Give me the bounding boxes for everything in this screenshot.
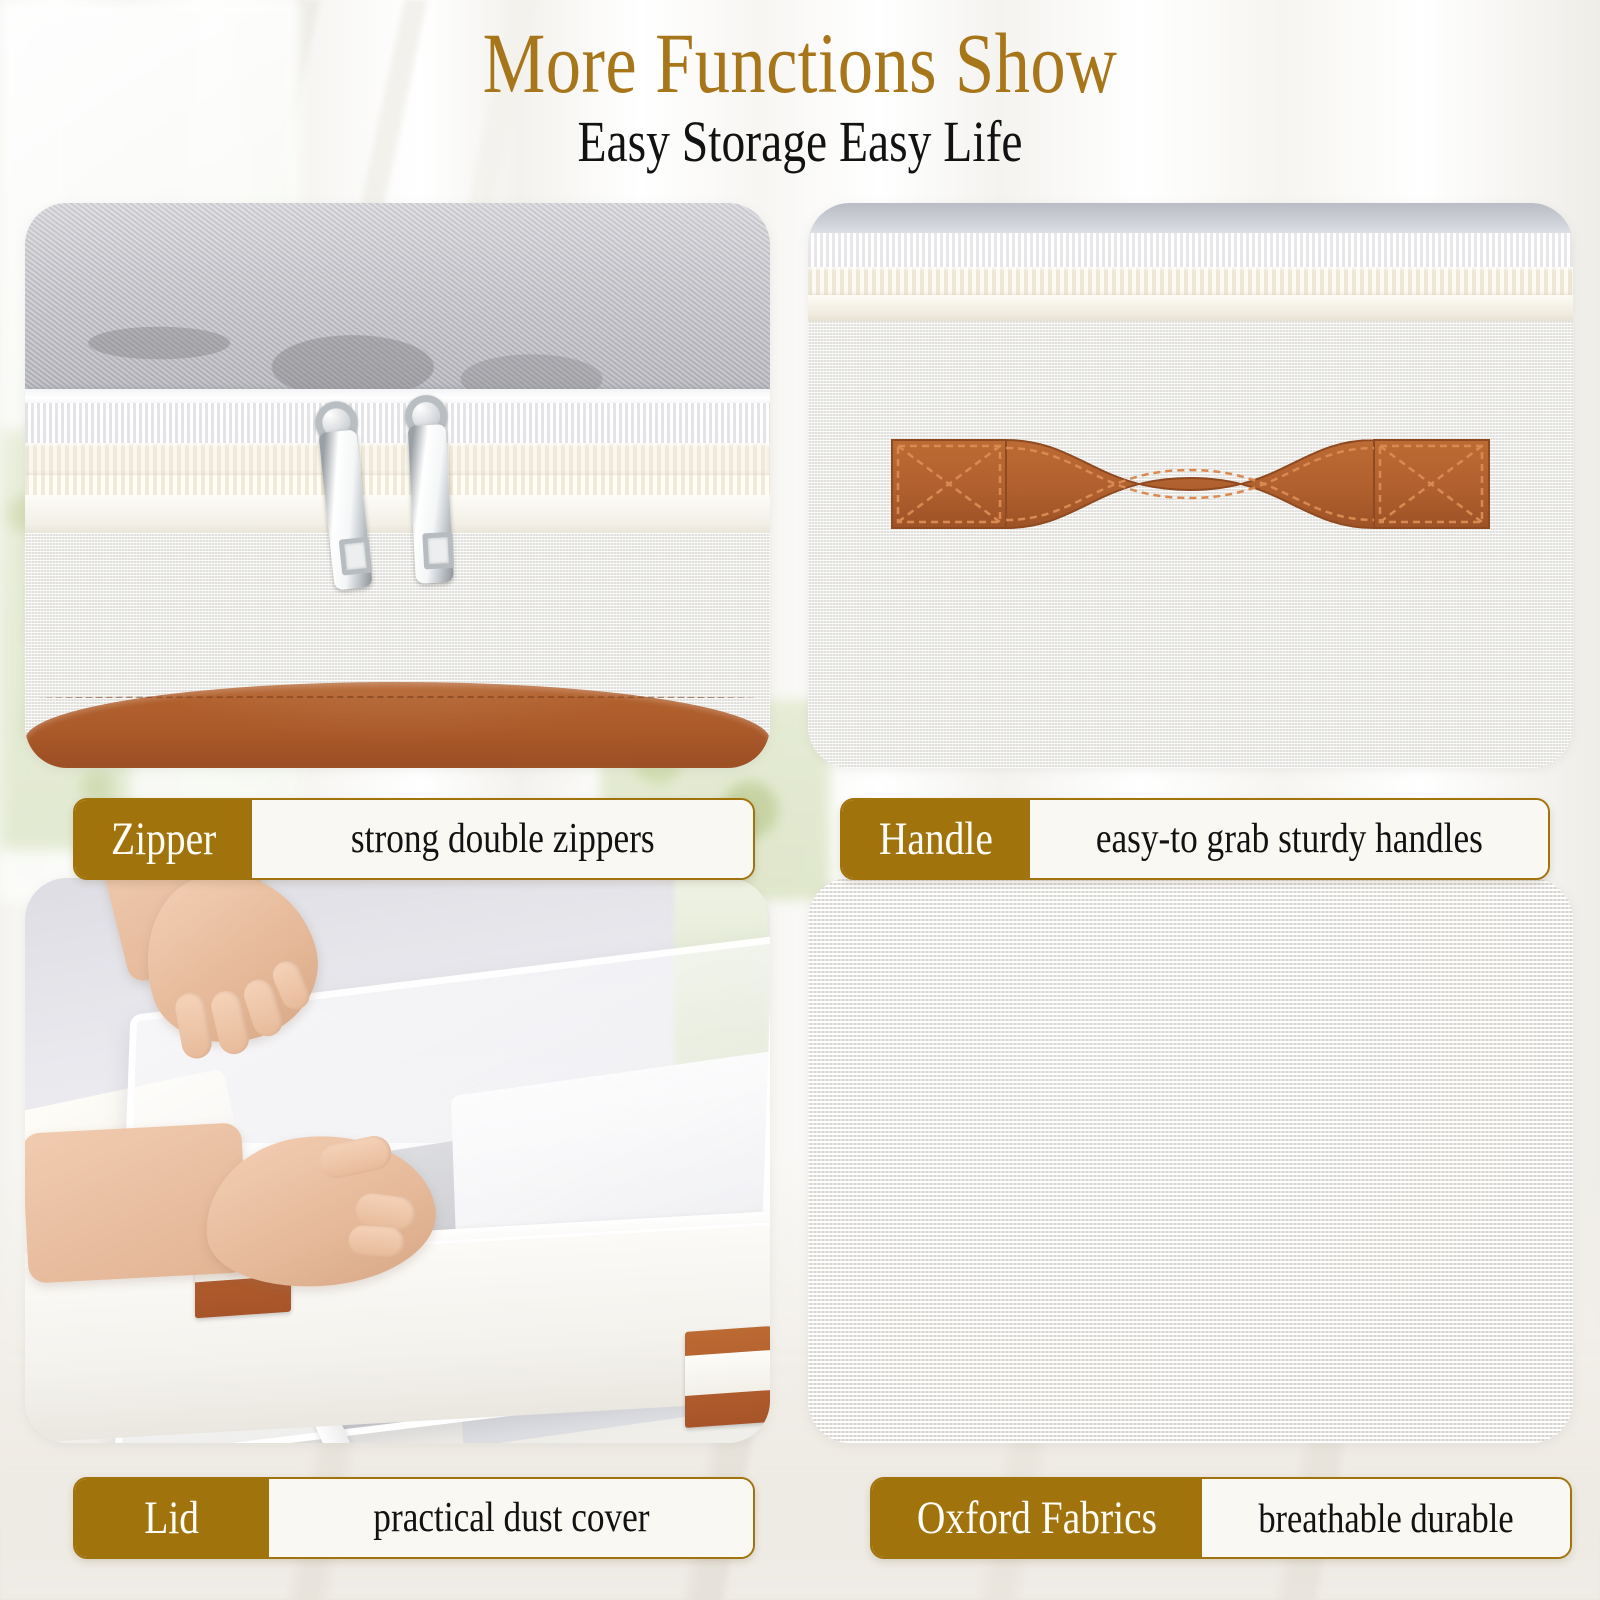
infographic-page: More Functions Show Easy Storage Easy Li…	[0, 0, 1600, 1600]
caption-badge-handle: Handle easy-to grab sturdy handles	[840, 798, 1550, 880]
caption-badge-lid: Lid practical dust cover	[73, 1477, 755, 1559]
leather-handle-tab	[685, 1326, 770, 1428]
thumb	[317, 1133, 394, 1181]
feature-image-lid	[25, 878, 770, 1443]
caption-badge-zipper: Zipper strong double zippers	[73, 798, 755, 880]
zipper-teeth	[808, 267, 1573, 297]
bag-top-edge	[808, 203, 1573, 237]
caption-value-lid: practical dust cover	[269, 1479, 753, 1557]
gray-blanket	[25, 203, 770, 403]
zipper-pull-hole	[339, 537, 373, 576]
caption-value-zipper: strong double zippers	[252, 800, 753, 878]
caption-key-zipper: Zipper	[75, 800, 252, 878]
caption-key-lid: Lid	[75, 1479, 269, 1557]
zipper-tape-bottom	[25, 495, 770, 537]
zipper-tape-top	[25, 403, 770, 447]
oxford-fabric-body	[808, 321, 1573, 768]
caption-key-handle: Handle	[842, 800, 1030, 878]
zipper-pull-right-icon	[402, 394, 458, 584]
page-title: More Functions Show	[144, 18, 1456, 108]
caption-value-handle: easy-to grab sturdy handles	[1030, 800, 1548, 878]
feature-image-zipper	[25, 203, 770, 768]
caption-key-oxford: Oxford Fabrics	[872, 1479, 1202, 1557]
zipper-teeth-second	[25, 475, 770, 497]
feature-image-oxford-fabric	[808, 878, 1573, 1443]
page-subtitle: Easy Storage Easy Life	[144, 112, 1456, 173]
feature-image-handle	[808, 203, 1573, 768]
zipper-pull-hole	[422, 532, 454, 570]
oxford-fabric-weave	[808, 878, 1573, 1443]
caption-badge-oxford: Oxford Fabrics breathable durable	[870, 1477, 1572, 1559]
header: More Functions Show Easy Storage Easy Li…	[0, 0, 1600, 173]
zipper-tape	[808, 233, 1573, 269]
zipper-teeth	[25, 443, 770, 477]
caption-value-oxford: breathable durable	[1202, 1479, 1570, 1557]
finger	[347, 1224, 405, 1258]
zipper-pull-tab	[408, 424, 454, 584]
leather-handle-strap	[888, 428, 1493, 540]
